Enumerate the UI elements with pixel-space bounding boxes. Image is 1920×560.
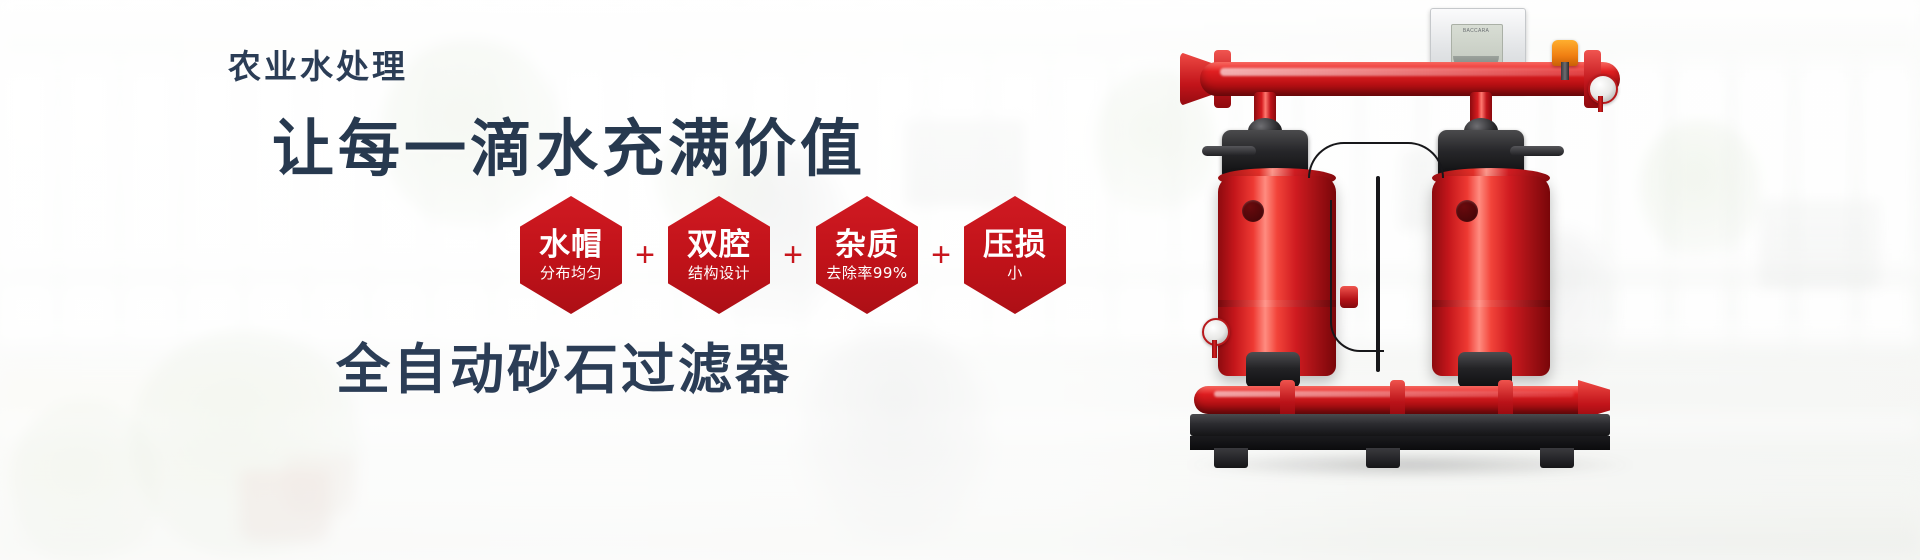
promo-banner: 农业水处理 让每一滴水充满价值 全自动砂石过滤器 水帽 分布均匀 + 双腔 结构… [0,0,1920,560]
control-tubing [1308,142,1444,178]
plus-separator-icon: + [918,238,964,272]
gauge-stem [1598,96,1603,112]
tank-manhole [1456,200,1478,222]
plus-separator-icon: + [622,238,668,272]
side-nozzle [1340,286,1358,308]
badge-title: 双腔 [687,230,751,261]
hexagon-shape: 压损 小 [964,196,1066,314]
badge-subtitle: 去除率99% [826,266,907,281]
tank-manhole [1242,200,1264,222]
base-frame [1190,414,1610,436]
hexagon-shape: 杂质 去除率99% [816,196,918,314]
pipe-highlight [1220,68,1600,76]
feature-badge-row: 水帽 分布均匀 + 双腔 结构设计 + 杂质 去除率99% + 压损 小 [520,196,1066,314]
badge-title: 杂质 [835,230,899,261]
valve-arm [1510,146,1564,156]
valve-arm [1202,146,1256,156]
badge-subtitle: 结构设计 [688,266,750,281]
control-tubing [1330,200,1384,352]
base-foot [1540,448,1574,468]
banner-eyebrow: 农业水处理 [228,40,408,88]
tank-band [1432,300,1550,307]
badge-subtitle: 分布均匀 [540,266,602,281]
badge-title: 压损 [983,230,1047,261]
filter-tank [1218,176,1336,376]
orange-valve-stem [1561,62,1569,80]
pressure-gauge [1588,74,1618,104]
feature-badge-pressure-loss: 压损 小 [964,196,1066,314]
base-foot [1366,448,1400,468]
base-foot [1214,448,1248,468]
badge-title: 水帽 [539,230,603,261]
controller-brand-label: BACCARA [1453,28,1499,34]
gauge-stem [1212,340,1217,358]
tank-band [1218,300,1336,307]
feature-badge-dual-chamber: 双腔 结构设计 [668,196,770,314]
feature-badge-impurity: 杂质 去除率99% [816,196,918,314]
product-image-sand-filter: BACCARA BACCARA [1180,0,1680,560]
feature-badge-water-cap: 水帽 分布均匀 [520,196,622,314]
badge-subtitle: 小 [1007,266,1023,281]
hexagon-shape: 双腔 结构设计 [668,196,770,314]
banner-headline: 让每一滴水充满价值 [272,98,866,188]
hexagon-shape: 水帽 分布均匀 [520,196,622,314]
banner-tagline: 全自动砂石过滤器 [336,325,792,404]
filter-tank [1432,176,1550,376]
plus-separator-icon: + [770,238,816,272]
